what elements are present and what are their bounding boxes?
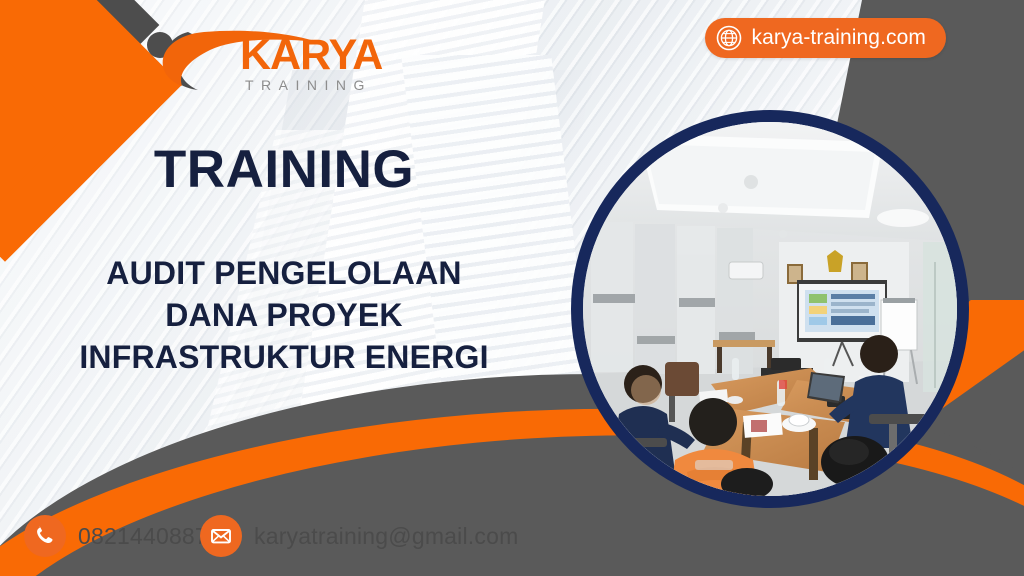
training-poster: KARYA TRAINING karya-training.com TRAINI… [0, 0, 1024, 576]
page-title: TRAINING [0, 143, 568, 196]
subtitle-line-2: DANA PROYEK [0, 294, 568, 336]
photo-illustration [583, 122, 957, 496]
subtitle-line-1: AUDIT PENGELOLAAN [0, 252, 568, 294]
page-subtitle: AUDIT PENGELOLAAN DANA PROYEK INFRASTRUK… [0, 252, 568, 379]
email-address: karyatraining@gmail.com [254, 523, 518, 550]
training-room-photo [583, 122, 957, 496]
envelope-icon [200, 515, 242, 557]
karya-training-logo[interactable]: KARYA TRAINING [140, 24, 390, 94]
logo-wordmark: KARYA [240, 34, 382, 77]
globe-icon [716, 25, 742, 51]
contact-email[interactable]: karyatraining@gmail.com [200, 515, 518, 557]
subtitle-line-3: INFRASTRUKTUR ENERGI [0, 336, 568, 378]
logo-subwordmark: TRAINING [245, 78, 372, 92]
website-badge[interactable]: karya-training.com [705, 18, 946, 58]
phone-icon [24, 515, 66, 557]
website-label: karya-training.com [751, 26, 926, 50]
